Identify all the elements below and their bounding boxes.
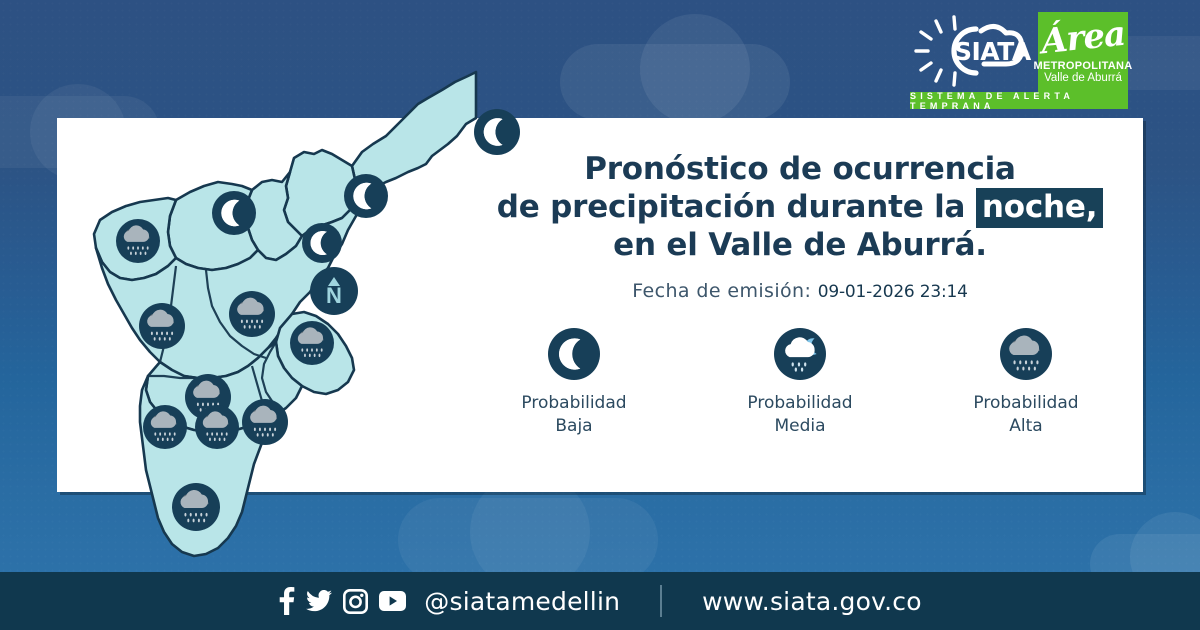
compass-rose: N [310, 267, 358, 315]
compass-north-label: N [326, 286, 342, 306]
legend-label-line1: Probabilidad [521, 393, 626, 413]
cloud-heavy-rain-icon [1000, 328, 1052, 380]
moon-icon [344, 174, 388, 218]
infographic-canvas: SIATA Área METROPOLITANA Valle de Aburrá… [0, 0, 1200, 630]
marker-la-estrella [143, 405, 187, 449]
marker-envigado [242, 399, 288, 445]
marker-medellin-e [290, 321, 334, 365]
legend-label-line2: Baja [555, 416, 592, 436]
valle-de-aburra-map: N [56, 40, 476, 570]
cloud-heavy-rain-icon [229, 291, 275, 337]
legend-item-alta: ProbabilidadAlta [966, 328, 1086, 438]
legend-item-label: ProbabilidadMedia [747, 392, 852, 438]
issue-date-value: 09-01-2026 23:14 [818, 282, 968, 302]
instagram-icon[interactable] [343, 589, 368, 614]
cloud-heavy-rain-icon [195, 405, 239, 449]
page-title: Pronóstico de ocurrencia de precipitació… [470, 150, 1130, 264]
website-url[interactable]: www.siata.gov.co [702, 587, 922, 616]
siata-logo-text: SIATA [954, 37, 1032, 66]
moon-icon [474, 109, 520, 155]
youtube-icon[interactable] [379, 591, 406, 611]
cloud-heavy-rain-icon [139, 303, 185, 349]
siata-tagline-bar: SISTEMA DE ALERTA TEMPRANA [910, 92, 1128, 109]
moon-icon [302, 223, 342, 263]
legend-item-media: ProbabilidadMedia [740, 328, 860, 438]
background-cloud-4 [640, 14, 750, 124]
forecast-panel: Pronóstico de ocurrencia de precipitació… [470, 150, 1130, 302]
area-logo-word: Área [1039, 12, 1127, 65]
marker-sabaneta [195, 405, 239, 449]
moon-icon-badge [548, 328, 600, 380]
headline-line-3: en el Valle de Aburrá. [470, 226, 1130, 264]
cloud-heavy-rain-icon [172, 483, 220, 531]
cloud-moon-rain-icon-badge [774, 328, 826, 380]
siata-logo: SIATA [906, 12, 1034, 90]
marker-caldas [172, 483, 220, 531]
marker-medellin-nw [139, 303, 185, 349]
cloud-heavy-rain-icon [290, 321, 334, 365]
cloud-heavy-rain-icon [143, 405, 187, 449]
footer-divider [660, 585, 662, 617]
marker-san-pedro [116, 219, 160, 263]
legend-item-label: ProbabilidadBaja [521, 392, 626, 438]
headline-line-2: de precipitación durante la noche, [470, 188, 1130, 226]
legend-item-label: ProbabilidadAlta [973, 392, 1078, 438]
footer-bar: @siatamedellin www.siata.gov.co [0, 572, 1200, 630]
cloud-heavy-rain-icon [116, 219, 160, 263]
marker-barbosa [474, 109, 520, 155]
social-handle[interactable]: @siatamedellin [424, 587, 620, 616]
area-logo-line2: Valle de Aburrá [1044, 72, 1122, 85]
cloud-moon-rain-icon [774, 328, 826, 380]
issue-date-label: Fecha de emisión: [632, 280, 811, 302]
legend-label-line2: Alta [1009, 416, 1042, 436]
marker-bello [212, 191, 256, 235]
legend-label-line1: Probabilidad [747, 393, 852, 413]
legend-label-line1: Probabilidad [973, 393, 1078, 413]
moon-icon [212, 191, 256, 235]
headline-line-1: Pronóstico de ocurrencia [470, 150, 1130, 188]
marker-medellin-ne [229, 291, 275, 337]
social-icons [278, 587, 406, 615]
municipality-barbosa [352, 72, 476, 190]
headline-highlight: noche, [976, 188, 1103, 228]
headline-line-2-text: de precipitación durante la [497, 189, 976, 225]
facebook-icon[interactable] [278, 587, 295, 615]
marker-copacabana [302, 223, 342, 263]
siata-tagline-text: SISTEMA DE ALERTA TEMPRANA [910, 91, 1128, 111]
moon-icon [548, 328, 600, 380]
twitter-icon[interactable] [306, 590, 332, 612]
marker-girardota [344, 174, 388, 218]
cloud-heavy-rain-icon-badge [1000, 328, 1052, 380]
cloud-heavy-rain-icon [242, 399, 288, 445]
legend-item-baja: ProbabilidadBaja [514, 328, 634, 438]
siata-sun-cloud-icon: SIATA [906, 12, 1034, 90]
legend-label-line2: Media [774, 416, 825, 436]
issue-date: Fecha de emisión: 09-01-2026 23:14 [470, 280, 1130, 302]
probability-legend: ProbabilidadBajaProbabilidadMediaProbabi… [470, 328, 1130, 438]
